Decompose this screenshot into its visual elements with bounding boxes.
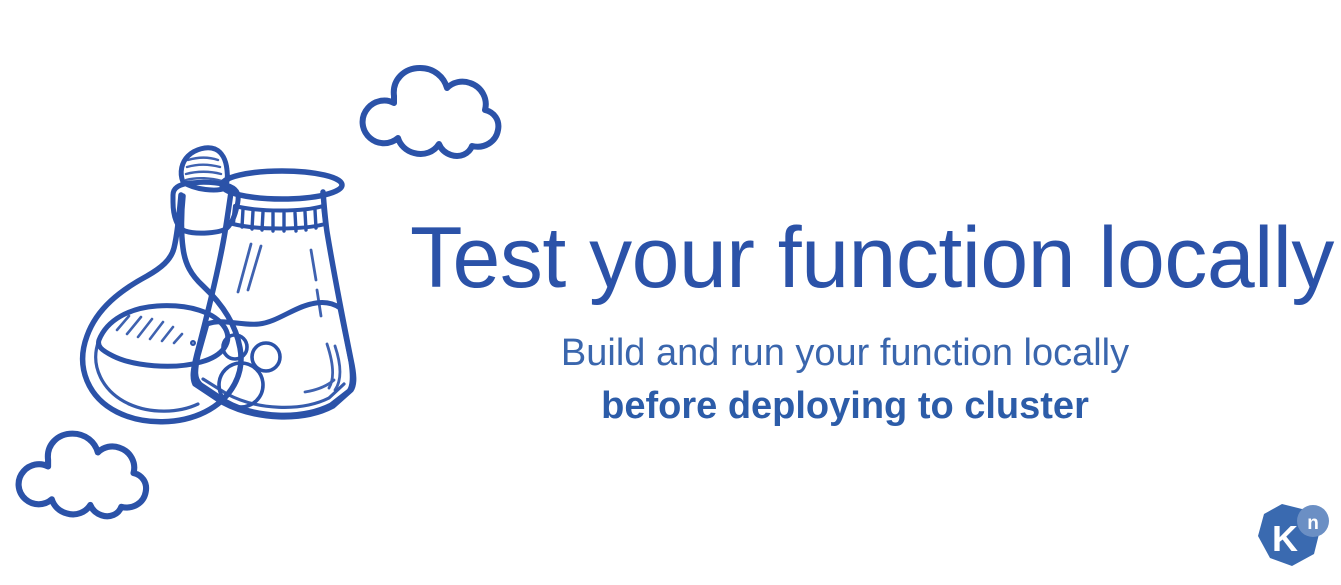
knative-k-letter: K xyxy=(1272,518,1298,559)
flask-rim-band xyxy=(233,206,325,231)
subtitle-line-2: before deploying to cluster xyxy=(410,382,1280,431)
page-title: Test your function locally xyxy=(410,215,1280,301)
science-flasks-illustration xyxy=(55,140,395,425)
subtitle-block: Build and run your function locally befo… xyxy=(410,329,1280,432)
cloud-icon-top xyxy=(352,62,504,160)
erlenmeyer-flask xyxy=(193,171,353,417)
knative-logo: K n xyxy=(1252,500,1332,576)
knative-n-letter: n xyxy=(1307,513,1319,534)
slide-canvas: Test your function locally Build and run… xyxy=(0,0,1341,585)
cloud-icon-bottom xyxy=(8,428,152,520)
subtitle-line-1: Build and run your function locally xyxy=(410,329,1280,378)
slide-text-block: Test your function locally Build and run… xyxy=(410,215,1280,432)
